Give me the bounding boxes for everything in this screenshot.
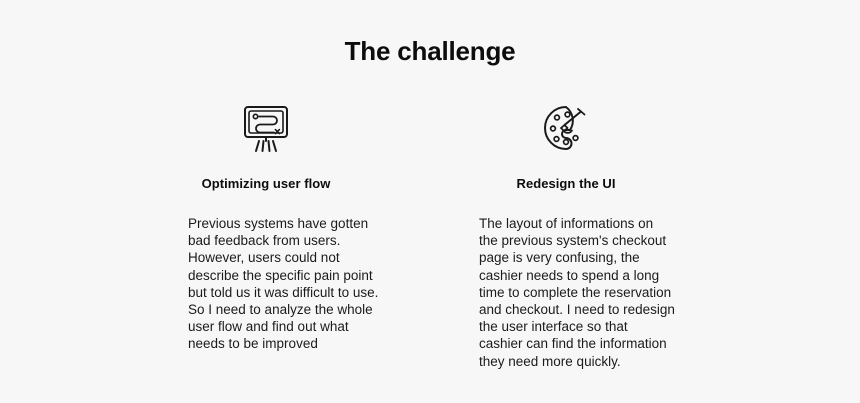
paint-palette-icon-wrap — [416, 100, 716, 156]
column-heading-redesign-the-ui: Redesign the UI — [416, 176, 716, 192]
column-heading-optimizing-user-flow: Optimizing user flow — [116, 176, 416, 192]
easel-flowchart-icon — [240, 103, 292, 153]
column-optimizing-user-flow: Optimizing user flow Previous systems ha… — [116, 100, 416, 353]
columns-container: Optimizing user flow Previous systems ha… — [0, 100, 860, 400]
column-body-redesign-the-ui: The layout of informations on the previo… — [416, 215, 716, 370]
column-redesign-the-ui: Redesign the UI The layout of informatio… — [416, 100, 716, 370]
challenge-slide: The challenge — [0, 0, 860, 403]
easel-flowchart-icon-wrap — [116, 100, 416, 156]
paint-palette-icon — [540, 103, 592, 153]
column-body-optimizing-user-flow: Previous systems have gotten bad feedbac… — [116, 215, 416, 353]
page-title: The challenge — [0, 34, 860, 68]
